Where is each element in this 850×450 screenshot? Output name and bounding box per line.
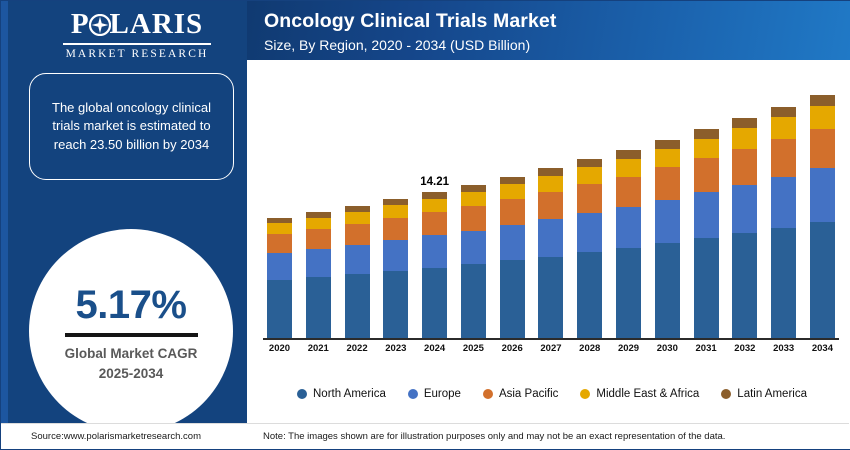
bar-segment[interactable] xyxy=(267,234,292,253)
bar-segment[interactable] xyxy=(461,192,486,206)
logo-tagline: MARKET RESEARCH xyxy=(37,48,237,60)
bar-segment[interactable] xyxy=(538,257,563,338)
cagr-value: 5.17% xyxy=(76,285,187,325)
bar-segment[interactable] xyxy=(577,159,602,167)
footer-source: Source:www.polarismarketresearch.com xyxy=(31,431,201,442)
bar-segment[interactable] xyxy=(655,200,680,244)
bar-segment[interactable] xyxy=(577,252,602,338)
bar-column[interactable] xyxy=(306,212,331,338)
cagr-label: Global Market CAGR 2025-2034 xyxy=(65,344,198,383)
bar-segment[interactable] xyxy=(461,231,486,265)
bar-segment[interactable] xyxy=(810,129,835,169)
x-axis-tick: 2020 xyxy=(267,343,292,354)
bar-segment[interactable] xyxy=(461,264,486,338)
bar-segment[interactable] xyxy=(461,185,486,192)
bar-segment[interactable] xyxy=(655,243,680,338)
bar-segment[interactable] xyxy=(538,192,563,219)
bar-segment[interactable] xyxy=(616,150,641,159)
page-title: Oncology Clinical Trials Market xyxy=(264,8,850,34)
legend-label: Asia Pacific xyxy=(499,388,558,400)
x-axis-tick: 2030 xyxy=(655,343,680,354)
footer: Source:www.polarismarketresearch.com Not… xyxy=(1,423,849,449)
cagr-divider xyxy=(65,333,198,337)
polaris-logo: PLARIS MARKET RESEARCH xyxy=(37,10,237,60)
bar-column[interactable] xyxy=(732,118,757,338)
x-axis-line xyxy=(263,338,839,340)
legend-item[interactable]: North America xyxy=(297,388,386,400)
bar-segment[interactable] xyxy=(577,213,602,252)
bar-segment[interactable] xyxy=(267,280,292,338)
x-axis-tick: 2032 xyxy=(732,343,757,354)
bar-column[interactable] xyxy=(655,140,680,338)
bar-segment[interactable] xyxy=(616,159,641,177)
bar-segment[interactable] xyxy=(306,218,331,230)
bar-segment[interactable] xyxy=(732,233,757,338)
bar-segment[interactable] xyxy=(422,199,447,213)
bar-segment[interactable] xyxy=(500,225,525,260)
bar-segment[interactable] xyxy=(771,228,796,338)
bar-column[interactable] xyxy=(267,218,292,338)
bar-segment[interactable] xyxy=(383,240,408,271)
legend-color-dot xyxy=(297,389,307,399)
bar-segment[interactable] xyxy=(771,139,796,177)
bar-segment[interactable] xyxy=(267,223,292,234)
infographic-page: PLARIS MARKET RESEARCH The global oncolo… xyxy=(0,0,850,450)
legend-item[interactable]: Latin America xyxy=(721,388,807,400)
sidebar-accent-stripe xyxy=(1,1,8,449)
bar-segment[interactable] xyxy=(383,271,408,338)
x-axis-tick: 2023 xyxy=(383,343,408,354)
x-axis-tick: 2033 xyxy=(771,343,796,354)
market-estimate-callout: The global oncology clinical trials mark… xyxy=(29,73,234,180)
x-axis-tick: 2022 xyxy=(345,343,370,354)
bar-segment[interactable] xyxy=(810,106,835,129)
bar-segment[interactable] xyxy=(655,167,680,199)
legend-color-dot xyxy=(580,389,590,399)
bar-group: 14.21 xyxy=(263,86,839,338)
bar-column[interactable] xyxy=(771,107,796,338)
bar-column[interactable] xyxy=(616,150,641,338)
bar-segment[interactable] xyxy=(500,260,525,338)
legend-label: Europe xyxy=(424,388,461,400)
x-axis-tick: 2027 xyxy=(538,343,563,354)
legend-item[interactable]: Middle East & Africa xyxy=(580,388,699,400)
bar-segment[interactable] xyxy=(655,149,680,168)
cagr-label-line1: Global Market CAGR xyxy=(65,344,198,364)
bar-segment[interactable] xyxy=(810,95,835,106)
x-axis-tick: 2028 xyxy=(577,343,602,354)
bar-segment[interactable] xyxy=(500,199,525,225)
compass-star-icon xyxy=(89,14,111,36)
bar-segment[interactable] xyxy=(345,274,370,338)
bar-segment[interactable] xyxy=(422,212,447,235)
bar-segment[interactable] xyxy=(538,168,563,176)
legend-color-dot xyxy=(408,389,418,399)
header-banner: Oncology Clinical Trials Market Size, By… xyxy=(247,1,850,60)
bar-segment[interactable] xyxy=(732,118,757,128)
bar-segment[interactable] xyxy=(616,177,641,207)
x-axis-tick: 2025 xyxy=(461,343,486,354)
bar-value-label: 14.21 xyxy=(420,176,449,188)
bar-segment[interactable] xyxy=(267,253,292,279)
logo-letters-laris: LARIS xyxy=(110,8,204,40)
sidebar: PLARIS MARKET RESEARCH The global oncolo… xyxy=(1,1,247,449)
x-axis-tick: 2026 xyxy=(500,343,525,354)
bar-segment[interactable] xyxy=(694,129,719,139)
bar-column[interactable] xyxy=(383,199,408,338)
bar-segment[interactable] xyxy=(538,176,563,192)
x-axis-tick: 2029 xyxy=(616,343,641,354)
bar-segment[interactable] xyxy=(732,149,757,185)
chart-panel: 14.21 2020202120222023202420252026202720… xyxy=(247,60,850,449)
bar-segment[interactable] xyxy=(345,212,370,224)
bar-segment[interactable] xyxy=(422,268,447,338)
bar-segment[interactable] xyxy=(577,184,602,213)
bar-segment[interactable] xyxy=(771,107,796,118)
bar-segment[interactable] xyxy=(345,224,370,245)
bar-segment[interactable] xyxy=(422,235,447,267)
plot-area: 14.21 xyxy=(263,86,839,338)
bar-column[interactable] xyxy=(345,206,370,338)
legend-item[interactable]: Europe xyxy=(408,388,461,400)
bar-segment[interactable] xyxy=(306,229,331,249)
logo-letter-p: P xyxy=(71,8,90,40)
bar-segment[interactable] xyxy=(771,177,796,228)
legend-label: Middle East & Africa xyxy=(596,388,699,400)
bar-column[interactable] xyxy=(577,159,602,338)
logo-divider xyxy=(63,43,211,45)
bar-segment[interactable] xyxy=(810,222,835,338)
logo-wordmark: PLARIS xyxy=(37,10,237,39)
legend-label: Latin America xyxy=(737,388,807,400)
legend-item[interactable]: Asia Pacific xyxy=(483,388,558,400)
bar-segment[interactable] xyxy=(383,218,408,240)
bar-segment[interactable] xyxy=(694,139,719,159)
bar-segment[interactable] xyxy=(461,206,486,230)
bar-column[interactable] xyxy=(538,168,563,338)
bar-segment[interactable] xyxy=(732,185,757,233)
bar-segment[interactable] xyxy=(577,167,602,184)
market-estimate-text: The global oncology clinical trials mark… xyxy=(30,99,233,154)
bar-segment[interactable] xyxy=(732,128,757,149)
bar-segment[interactable] xyxy=(655,140,680,149)
bar-segment[interactable] xyxy=(616,248,641,338)
bar-segment[interactable] xyxy=(694,192,719,238)
bar-column[interactable] xyxy=(500,177,525,338)
bar-segment[interactable] xyxy=(694,158,719,192)
bar-column[interactable] xyxy=(810,95,835,338)
cagr-badge: 5.17% Global Market CAGR 2025-2034 xyxy=(29,229,233,433)
bar-segment[interactable] xyxy=(771,117,796,139)
bar-segment[interactable] xyxy=(810,168,835,222)
x-axis-tick: 2024 xyxy=(422,343,447,354)
bar-segment[interactable] xyxy=(538,219,563,256)
bar-segment[interactable] xyxy=(306,249,331,277)
footer-note: Note: The images shown are for illustrat… xyxy=(263,431,725,442)
x-axis-tick: 2034 xyxy=(810,343,835,354)
x-axis-labels: 2020202120222023202420252026202720282029… xyxy=(263,343,839,354)
bar-segment[interactable] xyxy=(345,245,370,274)
bar-segment[interactable] xyxy=(500,184,525,199)
x-axis-tick: 2031 xyxy=(694,343,719,354)
legend-color-dot xyxy=(483,389,493,399)
x-axis-tick: 2021 xyxy=(306,343,331,354)
bar-segment[interactable] xyxy=(422,192,447,199)
bar-segment[interactable] xyxy=(694,238,719,338)
chart-legend: North AmericaEuropeAsia PacificMiddle Ea… xyxy=(257,388,847,400)
bar-segment[interactable] xyxy=(616,207,641,248)
bar-column[interactable] xyxy=(694,129,719,338)
bar-column[interactable]: 14.21 xyxy=(422,192,447,338)
legend-color-dot xyxy=(721,389,731,399)
cagr-label-line2: 2025-2034 xyxy=(65,364,198,384)
bar-segment[interactable] xyxy=(306,277,331,338)
legend-label: North America xyxy=(313,388,386,400)
bar-segment[interactable] xyxy=(383,205,408,218)
bar-segment[interactable] xyxy=(500,177,525,184)
bar-column[interactable] xyxy=(461,185,486,338)
page-subtitle: Size, By Region, 2020 - 2034 (USD Billio… xyxy=(264,36,850,55)
